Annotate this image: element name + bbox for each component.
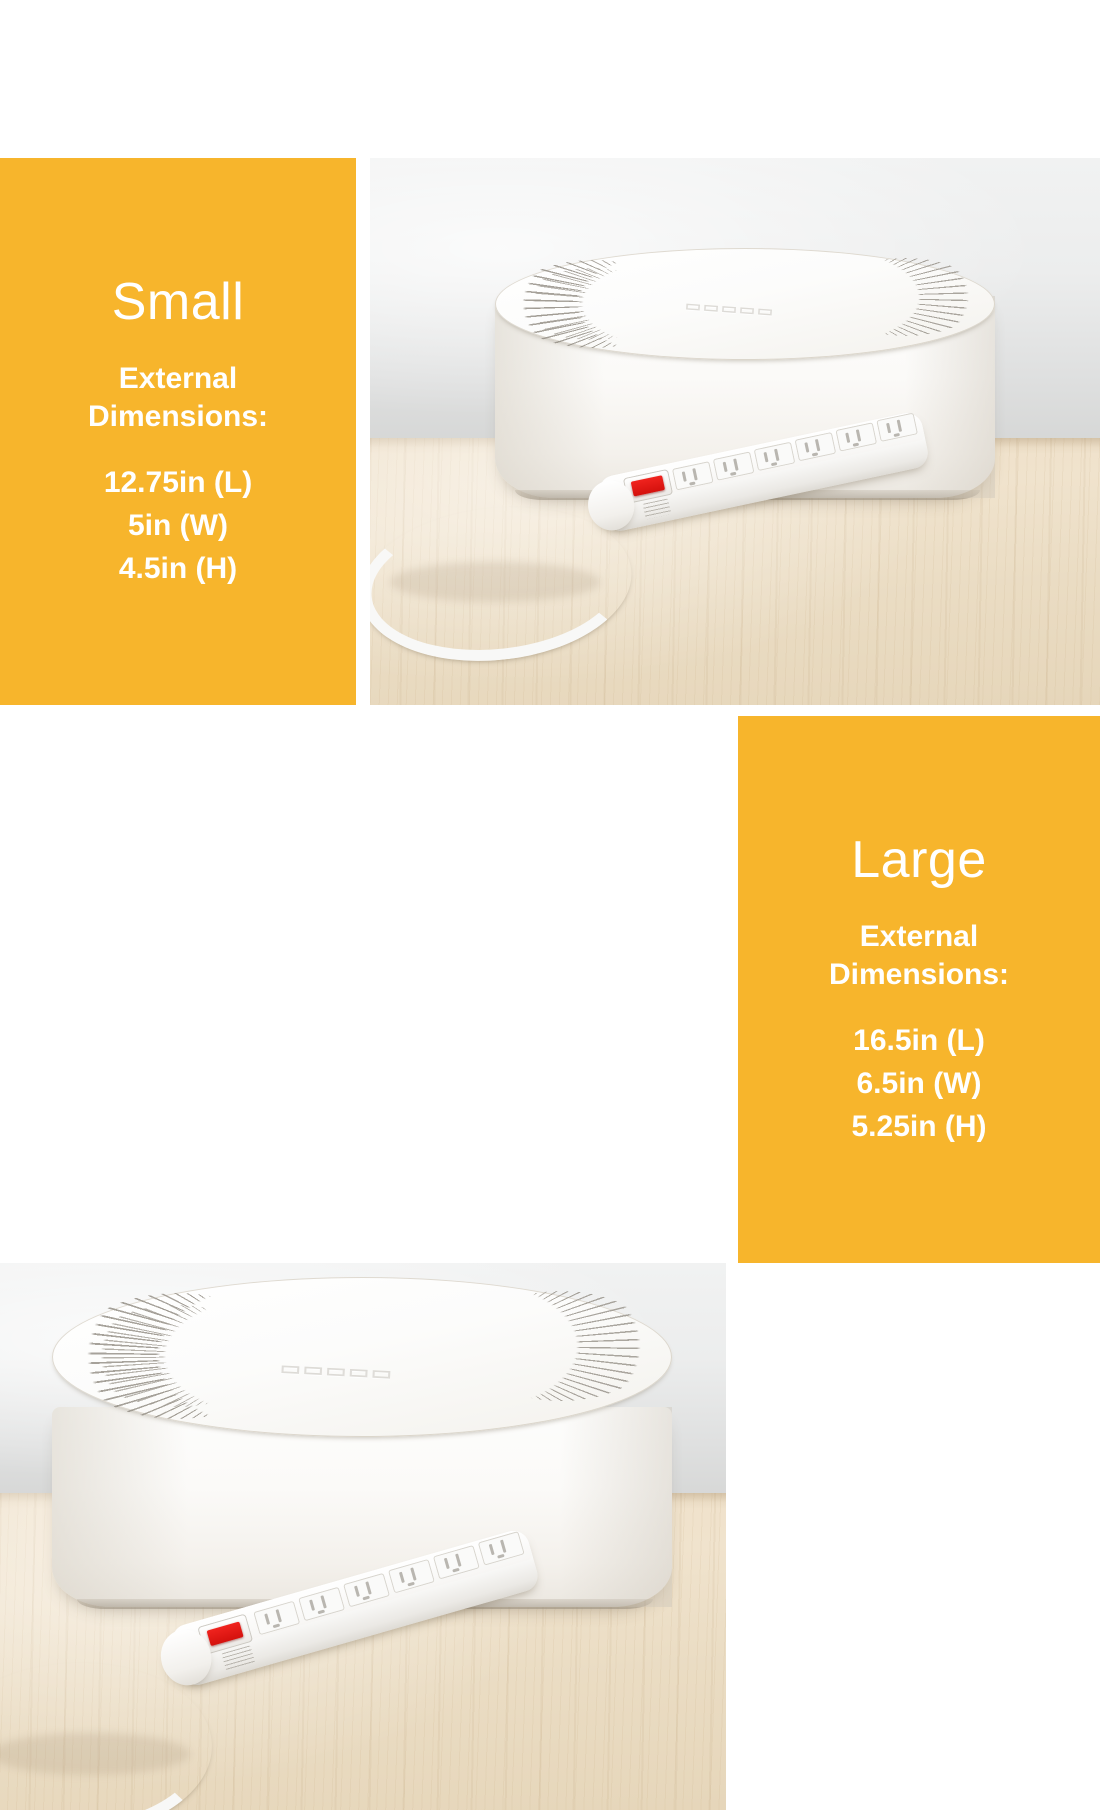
power-switch-toggle[interactable] (207, 1621, 244, 1646)
large-dimension-height: 5.25in (H) (851, 1107, 986, 1146)
large-info-panel: Large External Dimensions: 16.5in (L) 6.… (738, 716, 1100, 1263)
outlet-ground (407, 1582, 415, 1587)
small-dimension-height: 4.5in (H) (104, 549, 252, 588)
outlet-slot (897, 420, 902, 432)
outlet-slot (455, 1553, 461, 1566)
small-dimension-length: 12.75in (L) (104, 463, 252, 502)
outlet-ground (812, 452, 818, 456)
outlet-slot (489, 1544, 495, 1555)
outlet-slot (320, 1595, 326, 1608)
outlet-slot (723, 462, 728, 472)
large-dimension-width: 6.5in (W) (851, 1064, 986, 1103)
cable-box-lid: ▭▭▭▭▭ (495, 248, 995, 360)
small-info-panel: Small External Dimensions: 12.75in (L) 5… (0, 158, 356, 705)
outlet-slot (444, 1558, 450, 1569)
small-product-photo: ▭▭▭▭▭ (370, 158, 1100, 705)
outlet-ground (730, 472, 736, 476)
outlet-ground (452, 1568, 460, 1573)
large-panel-title: Large (851, 833, 987, 888)
outlet-slot (763, 452, 768, 462)
large-photo-scene: ▭▭▭▭▭ (0, 1263, 726, 1810)
strip-vent-grill (643, 498, 672, 519)
outlet-slot (815, 439, 820, 451)
outlet-slot (692, 468, 697, 480)
large-panel-subtitle: External Dimensions: (774, 918, 1064, 995)
outlet-slot (682, 471, 687, 481)
outlet-slot (845, 433, 850, 443)
vent-arc-inner (86, 1305, 268, 1407)
vent-arc-inner (521, 268, 663, 340)
outlet-slot (500, 1540, 506, 1553)
outlet-ground (362, 1596, 370, 1601)
outlet-ground (273, 1623, 281, 1628)
power-switch-toggle[interactable] (631, 475, 665, 496)
outlet-slot (275, 1609, 281, 1622)
small-dimensions-list: 12.75in (L) 5in (W) 4.5in (H) (104, 463, 252, 588)
outlet-ground (689, 481, 695, 485)
small-panel-title: Small (112, 275, 245, 330)
outlet-slot (774, 449, 779, 461)
cable-box-lid: ▭▭▭▭▭ (52, 1277, 672, 1437)
outlet-slot (399, 1572, 405, 1583)
outlet-slot (733, 458, 738, 470)
product-comparison-page: Small External Dimensions: 12.75in (L) 5… (0, 0, 1100, 1422)
outlet-ground (894, 433, 900, 437)
outlet-slot (804, 442, 809, 452)
outlet-slot (886, 423, 891, 433)
outlet-ground (318, 1610, 326, 1615)
outlet-slot (264, 1613, 270, 1624)
small-dimension-width: 5in (W) (104, 506, 252, 545)
outlet-slot (309, 1599, 315, 1610)
outlet-slot (856, 429, 861, 441)
strip-vent-grill (221, 1645, 255, 1671)
outlet-ground (853, 443, 859, 447)
large-product-photo: ▭▭▭▭▭ (0, 1263, 726, 1810)
small-panel-subtitle: External Dimensions: (33, 360, 323, 437)
small-photo-scene: ▭▭▭▭▭ (370, 158, 1100, 705)
vent-arc-right (466, 1291, 656, 1401)
vent-arc-right (831, 258, 981, 336)
outlet-slot (365, 1581, 371, 1594)
outlet-slot (354, 1586, 360, 1597)
large-dimension-length: 16.5in (L) (851, 1021, 986, 1060)
large-dimensions-list: 16.5in (L) 6.5in (W) 5.25in (H) (851, 1021, 986, 1146)
outlet-ground (771, 462, 777, 466)
outlet-slot (410, 1567, 416, 1580)
outlet-ground (497, 1554, 505, 1559)
